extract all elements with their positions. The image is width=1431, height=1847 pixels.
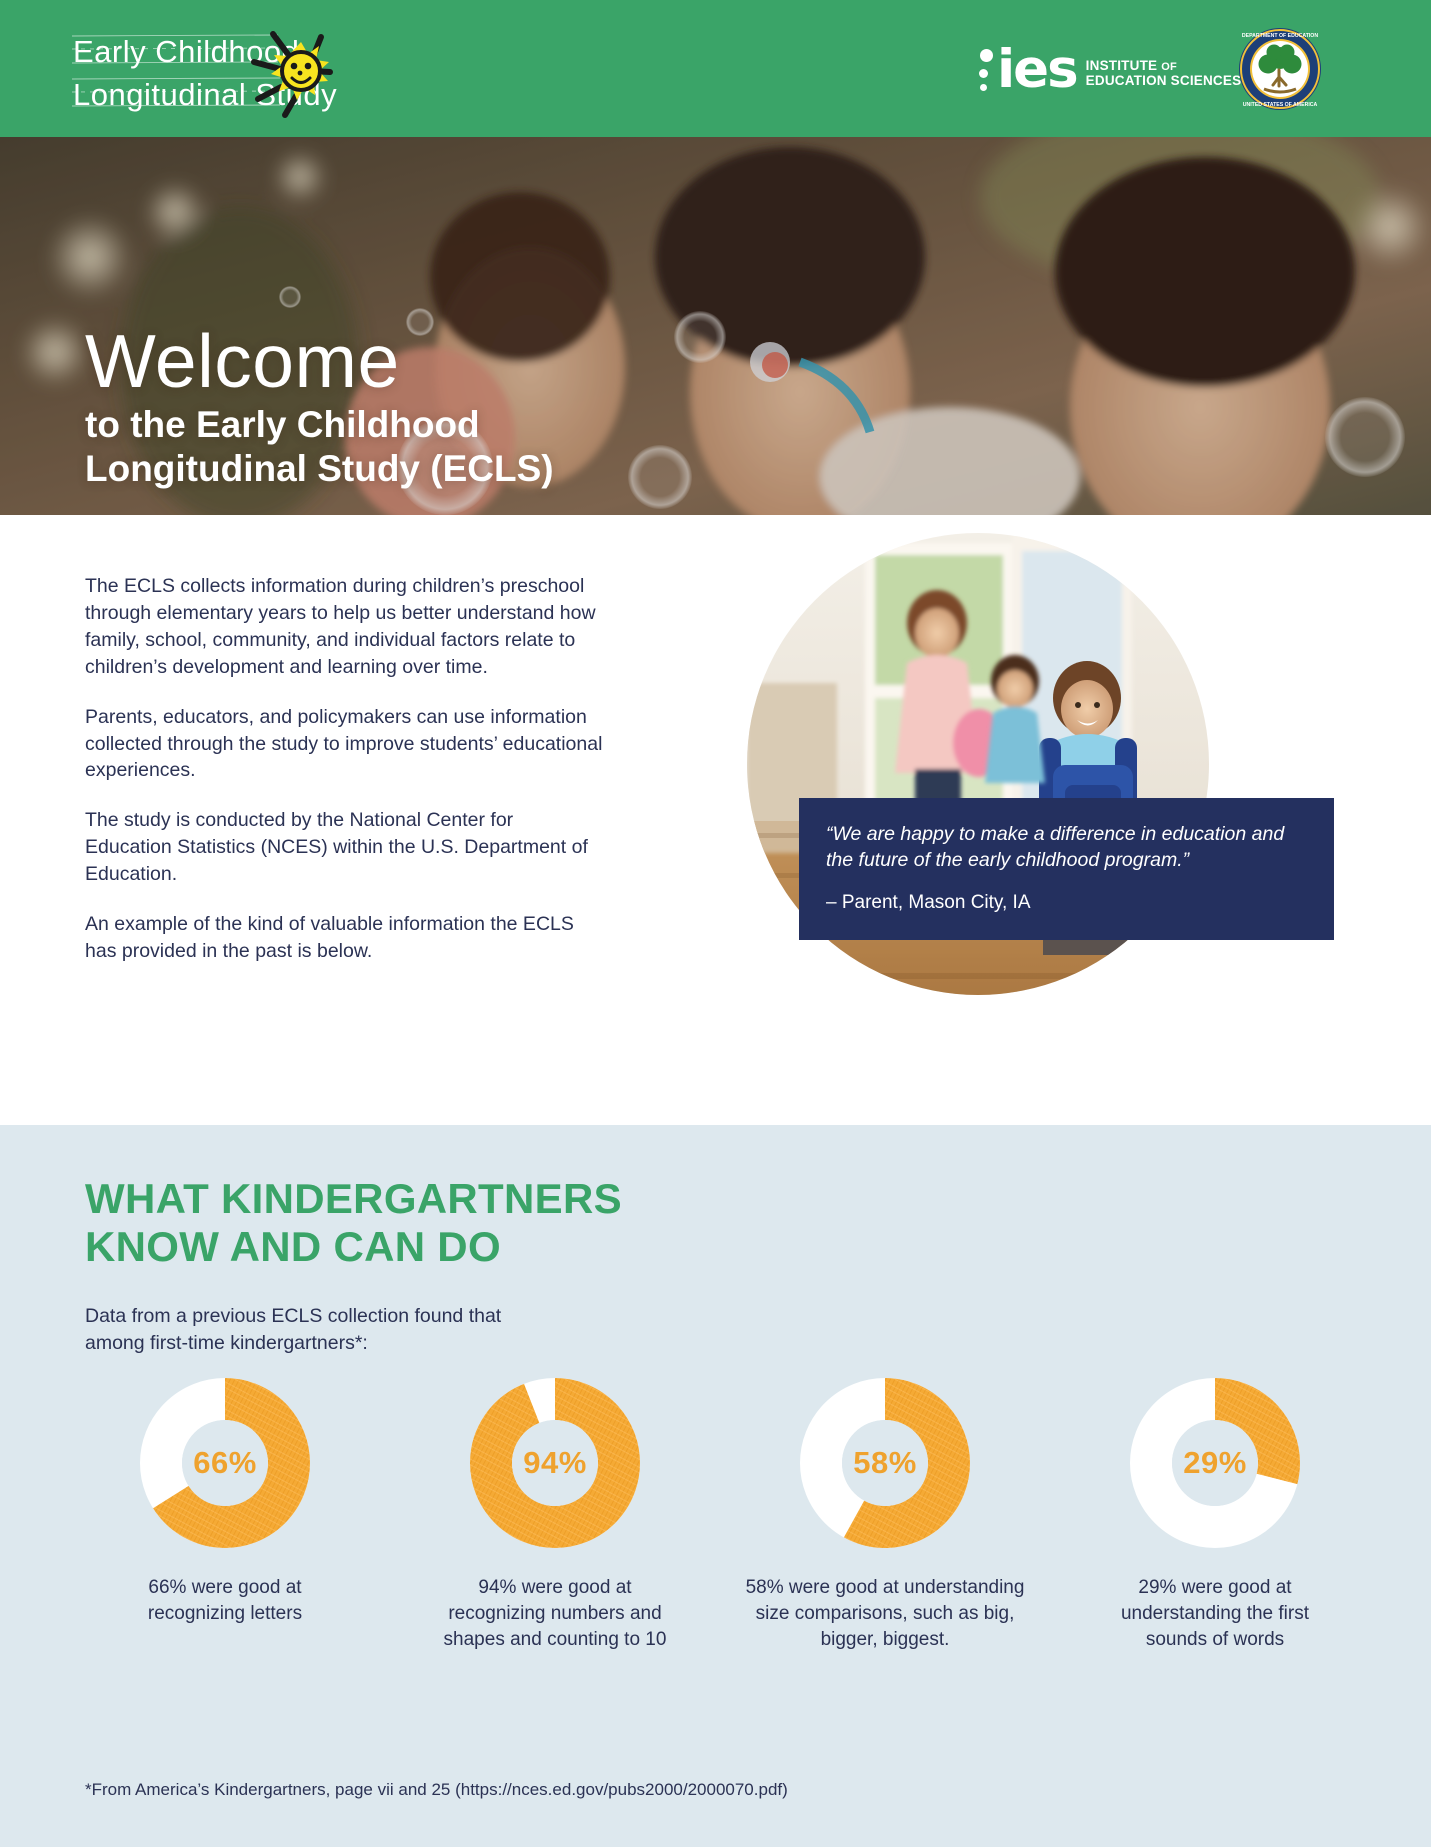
ies-subtitle: INSTITUTE OF EDUCATION SCIENCES [1086,52,1242,88]
testimonial-quote-text: “We are happy to make a difference in ed… [826,822,1307,874]
hero-subtitle: to the Early Childhood Longitudinal Stud… [85,403,554,490]
ies-wordmark: ies [997,48,1077,91]
intro-paragraph: The ECLS collects information during chi… [85,573,605,681]
stats-footnote: *From America’s Kindergartners, page vii… [85,1780,788,1800]
hero-welcome-title: Welcome [85,323,554,400]
statistics-section: WHAT KINDERGARTNERS KNOW AND CAN DO Data… [0,1125,1431,1847]
stats-heading-line1: WHAT KINDERGARTNERS [85,1175,622,1222]
donut-value-label: 58% [799,1377,971,1549]
ies-subtitle-line2: EDUCATION SCIENCES [1086,73,1242,88]
donut-value-label: 66% [139,1377,311,1549]
donut-stat-item: 66% 66% were good at recognizing letters [60,1377,390,1653]
hero-banner: Welcome to the Early Childhood Longitudi… [0,137,1431,515]
intro-section: The ECLS collects information during chi… [0,515,1431,1125]
donut-chart: 66% [139,1377,311,1549]
donut-caption-line2: recognizing letters [148,1603,302,1624]
stats-lede: Data from a previous ECLS collection fou… [85,1303,501,1357]
donut-stat-item: 58% 58% were good at understanding size … [720,1377,1050,1653]
ies-subtitle-of: OF [1161,61,1177,73]
donut-caption-line2: size comparisons, such as big, [756,1603,1015,1624]
department-of-education-seal[interactable]: DEPARTMENT OF EDUCATION UNITED STATES OF… [1238,27,1322,111]
donut-caption-line1: 66% were good at [148,1577,301,1598]
ecls-logo[interactable]: Early Childhood Longitudinal Study [68,24,398,120]
donut-caption: 29% were good at understanding the first… [1121,1575,1309,1653]
donut-caption-line3: bigger, biggest. [821,1629,950,1650]
donut-caption-line3: sounds of words [1146,1629,1284,1650]
donut-caption: 66% were good at recognizing letters [148,1575,302,1627]
page-header: Early Childhood Longitudinal Study [0,0,1431,137]
donut-caption-line1: 29% were good at [1138,1577,1291,1598]
stats-heading: WHAT KINDERGARTNERS KNOW AND CAN DO [85,1175,622,1271]
testimonial-quote-box: “We are happy to make a difference in ed… [799,798,1334,940]
svg-text:UNITED STATES OF AMERICA: UNITED STATES OF AMERICA [1243,102,1318,108]
intro-copy: The ECLS collects information during chi… [85,573,605,965]
hero-subtitle-line2: Longitudinal Study (ECLS) [85,448,554,489]
donut-caption-line1: 58% were good at understanding [746,1577,1025,1598]
donut-caption: 58% were good at understanding size comp… [746,1575,1025,1653]
donut-caption-line2: understanding the first [1121,1603,1309,1624]
ies-logo[interactable]: ies INSTITUTE OF EDUCATION SCIENCES [978,48,1241,92]
donut-caption-line2: recognizing numbers and [448,1603,661,1624]
donut-value-label: 94% [469,1377,641,1549]
hero-subtitle-line1: to the Early Childhood [85,404,480,445]
donut-caption-line1: 94% were good at [478,1577,631,1598]
intro-paragraph: The study is conducted by the National C… [85,807,605,888]
intro-paragraph: An example of the kind of valuable infor… [85,911,605,965]
stats-heading-line2: KNOW AND CAN DO [85,1223,501,1270]
donut-chart: 94% [469,1377,641,1549]
donut-chart: 58% [799,1377,971,1549]
donut-chart-row: 66% 66% were good at recognizing letters [60,1377,1380,1653]
donut-stat-item: 94% 94% were good at recognizing numbers… [390,1377,720,1653]
testimonial-author: – Parent, Mason City, IA [826,892,1307,915]
donut-value-label: 29% [1129,1377,1301,1549]
stats-lede-line1: Data from a previous ECLS collection fou… [85,1305,501,1327]
stats-lede-line2: among first-time kindergartners*: [85,1332,368,1354]
donut-stat-item: 29% 29% were good at understanding the f… [1050,1377,1380,1653]
donut-caption: 94% were good at recognizing numbers and… [444,1575,667,1653]
donut-chart: 29% [1129,1377,1301,1549]
ies-dots-icon [978,48,994,92]
ies-subtitle-line1: INSTITUTE [1086,58,1158,73]
hero-text-block: Welcome to the Early Childhood Longitudi… [85,323,554,490]
donut-caption-line3: shapes and counting to 10 [444,1629,667,1650]
intro-paragraph: Parents, educators, and policymakers can… [85,704,605,785]
svg-text:DEPARTMENT OF EDUCATION: DEPARTMENT OF EDUCATION [1242,33,1318,39]
